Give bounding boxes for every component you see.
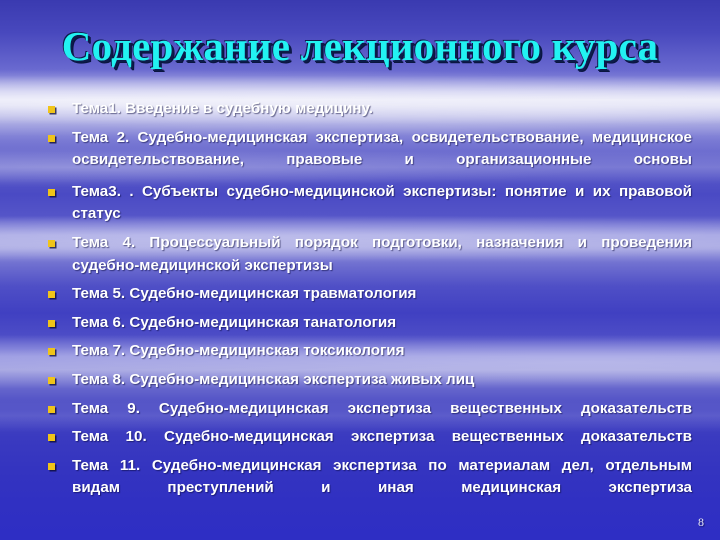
list-item: Тема 9. Судебно-медицинская экспертиза в… xyxy=(44,398,692,421)
bullet-square-icon xyxy=(48,463,55,470)
list-item: Тема 8. Судебно-медицинская экспертиза ж… xyxy=(44,369,692,392)
list-item: Тема 11. Судебно-медицинская экспертиза … xyxy=(44,455,692,500)
list-item-label: Тема3. . Субъекты судебно-медицинской эк… xyxy=(72,181,692,226)
list-item-label: Тема 6. Судебно-медицинская танатология xyxy=(72,312,692,335)
list-item: Тема 4. Процессуальный порядок подготовк… xyxy=(44,232,692,277)
slide-title: Содержание лекционного курса xyxy=(0,22,720,70)
list-item: Тема3. . Субъекты судебно-медицинской эк… xyxy=(44,181,692,226)
bullet-square-icon xyxy=(48,377,55,384)
bullet-square-icon xyxy=(48,320,55,327)
list-item: Тема 5. Судебно-медицинская травматологи… xyxy=(44,283,692,306)
bullet-square-icon xyxy=(48,291,55,298)
slide-page-number: 8 xyxy=(698,515,704,530)
bullet-square-icon xyxy=(48,189,55,196)
list-item: Тема 10. Судебно-медицинская экспертиза … xyxy=(44,426,692,449)
list-item-label: Тема1. Введение в судебную медицину. xyxy=(72,98,692,121)
presentation-slide: Содержание лекционного курса Тема1. Введ… xyxy=(0,0,720,540)
list-item: Тема 2. Судебно-медицинская экспертиза, … xyxy=(44,127,692,172)
list-item-label: Тема 4. Процессуальный порядок подготовк… xyxy=(72,232,692,277)
list-item-label: Тема 10. Судебно-медицинская экспертиза … xyxy=(72,426,692,449)
list-item: Тема 7. Судебно-медицинская токсикология xyxy=(44,340,692,363)
list-item-label: Тема 7. Судебно-медицинская токсикология xyxy=(72,340,692,363)
bullet-square-icon xyxy=(48,434,55,441)
list-item-label: Тема 11. Судебно-медицинская экспертиза … xyxy=(72,455,692,500)
bullet-square-icon xyxy=(48,348,55,355)
bullet-square-icon xyxy=(48,240,55,247)
list-item-label: Тема 9. Судебно-медицинская экспертиза в… xyxy=(72,398,692,421)
list-item-label: Тема 5. Судебно-медицинская травматологи… xyxy=(72,283,692,306)
bullet-square-icon xyxy=(48,135,55,142)
list-item-label: Тема 2. Судебно-медицинская экспертиза, … xyxy=(72,127,692,172)
list-item: Тема1. Введение в судебную медицину. xyxy=(44,98,692,121)
bullet-square-icon xyxy=(48,406,55,413)
list-item-label: Тема 8. Судебно-медицинская экспертиза ж… xyxy=(72,369,692,392)
list-item: Тема 6. Судебно-медицинская танатология xyxy=(44,312,692,335)
bullet-square-icon xyxy=(48,106,55,113)
content-bullet-list: Тема1. Введение в судебную медицину. Тем… xyxy=(44,98,692,506)
